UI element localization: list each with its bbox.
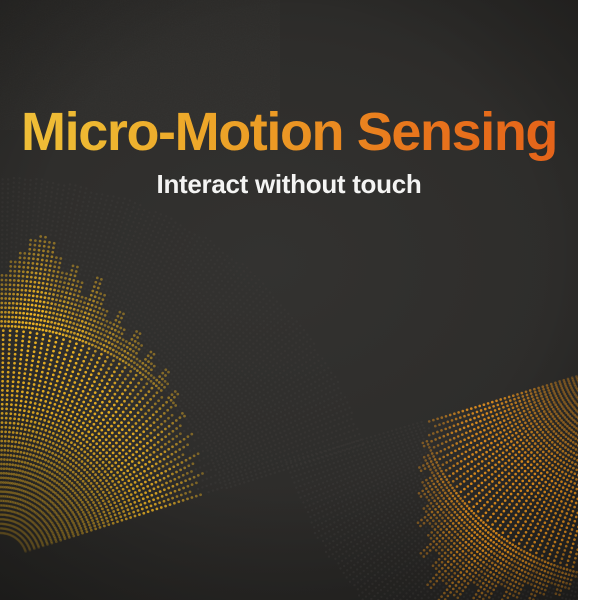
right-edge-strip: [578, 0, 600, 600]
page-subtitle: Interact without touch: [0, 169, 578, 200]
poster-canvas: Micro-Motion Sensing Interact without to…: [0, 0, 600, 600]
page-title: Micro-Motion Sensing: [0, 104, 578, 161]
dark-background-panel: Micro-Motion Sensing Interact without to…: [0, 0, 578, 600]
right-radial-waveform: [230, 250, 578, 600]
